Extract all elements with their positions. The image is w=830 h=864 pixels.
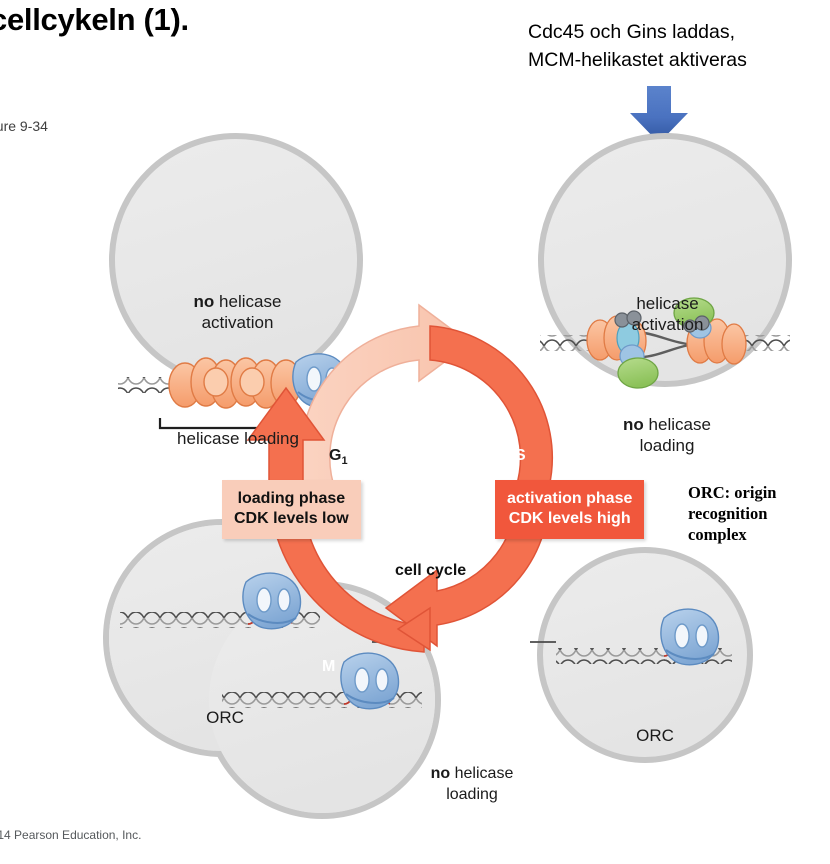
- loading-phase-line-2: CDK levels low: [234, 509, 349, 529]
- top-left-title-line2: activation: [155, 312, 320, 333]
- phase-g2-letter: G: [519, 658, 531, 675]
- top-right-title-line2: activation: [600, 314, 735, 335]
- phase-label-s: S: [515, 447, 526, 465]
- phase-m-letter: M: [322, 658, 335, 675]
- phase-label-m: M: [322, 658, 335, 676]
- activation-phase-box: activation phase CDK levels high: [495, 480, 644, 539]
- page-title: cellcykeln (1).: [0, 2, 189, 38]
- loading-phase-line-1: loading phase: [234, 489, 349, 509]
- between-cells-label: no helicase loading: [412, 763, 532, 805]
- orc-label-bottom-right: ORC: [625, 725, 685, 746]
- top-left-title-rest: helicase: [214, 292, 281, 311]
- top-left-title-bold: no: [194, 292, 215, 311]
- annotation-line-2: MCM-helikastet aktiveras: [528, 46, 828, 74]
- phase-g1-sub: 1: [341, 455, 347, 467]
- cell-panel-top-left: [112, 136, 360, 384]
- loading-phase-box: loading phase CDK levels low: [222, 480, 361, 539]
- top-right-sub-line2: loading: [592, 435, 742, 456]
- annotation-text: Cdc45 och Gins laddas, MCM-helikastet ak…: [528, 18, 828, 74]
- between-cells-line2: loading: [412, 784, 532, 805]
- annotation-line-1: Cdc45 och Gins laddas,: [528, 18, 828, 46]
- phase-label-g1: G1: [329, 447, 348, 467]
- cell-cycle-center-label: cell cycle: [395, 562, 466, 580]
- top-left-bracket-label: helicase loading: [148, 428, 328, 449]
- phase-g2-sub: 2: [531, 666, 537, 678]
- phase-g1-letter: G: [329, 447, 341, 464]
- top-right-title-line1: helicase: [600, 293, 735, 314]
- top-right-panel-title: helicase activation: [600, 293, 735, 335]
- top-right-sub-rest: helicase: [644, 415, 711, 434]
- top-right-sub-bold: no: [623, 415, 644, 434]
- between-cells-rest: helicase: [450, 765, 513, 782]
- between-cells-bold: no: [431, 765, 451, 782]
- copyright-notice: 2014 Pearson Education, Inc.: [0, 828, 141, 842]
- phase-s-letter: S: [515, 447, 526, 464]
- activation-phase-line-2: CDK levels high: [507, 509, 632, 529]
- top-right-panel-subtitle: no helicase loading: [592, 414, 742, 456]
- orc-label-bottom-left: ORC: [195, 707, 255, 728]
- top-left-panel-title: no helicase activation: [155, 291, 320, 333]
- activation-phase-line-1: activation phase: [507, 489, 632, 509]
- phase-label-g2: G2: [519, 658, 538, 678]
- cell-cycle-figure: no helicase activation helicase loading …: [0, 130, 830, 830]
